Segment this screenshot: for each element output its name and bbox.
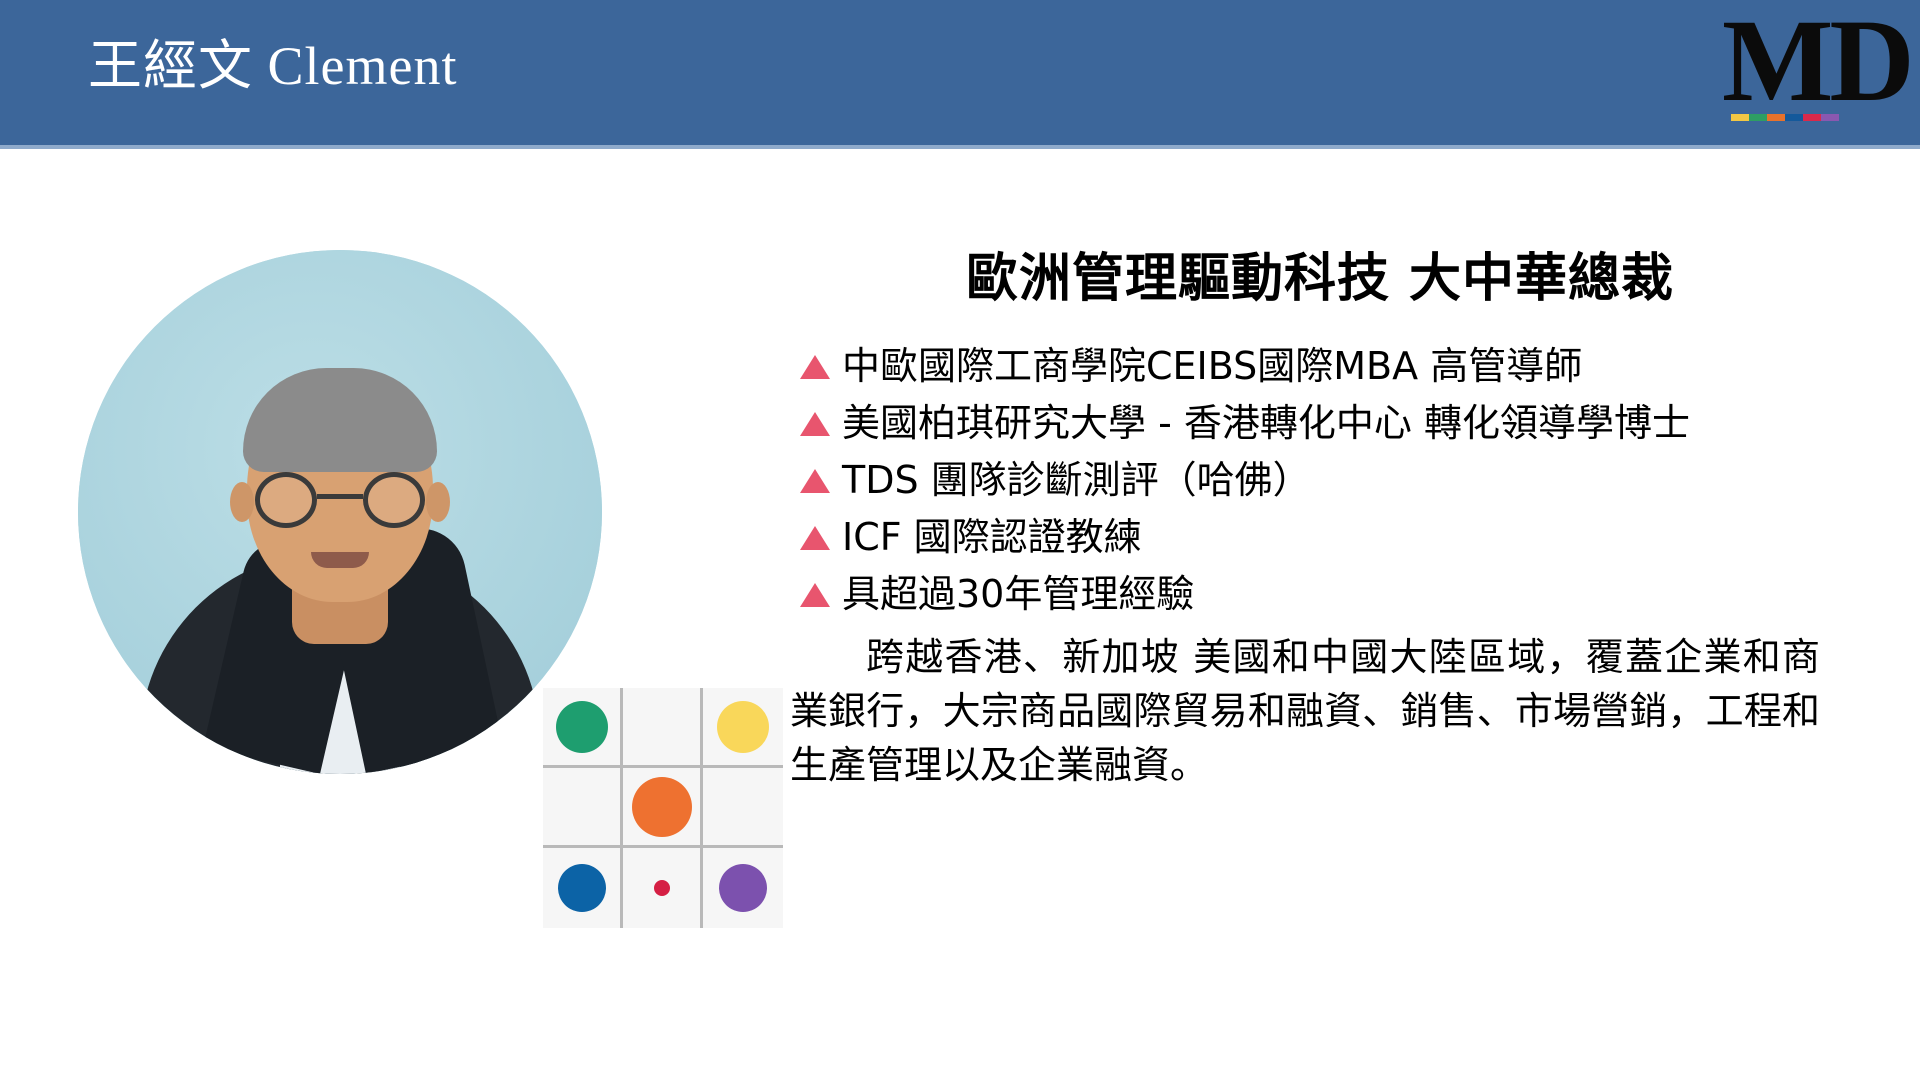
logo-bar-segment-4 — [1785, 114, 1803, 121]
list-item-label: ICF 國際認證教練 — [842, 517, 1142, 558]
dot-orange — [632, 777, 692, 837]
logo-bar-segment-3 — [1767, 114, 1785, 121]
dot-grid-cell-bottom-center — [623, 848, 703, 928]
dot-red-small — [654, 880, 670, 896]
portrait-lens-left — [255, 472, 317, 528]
headline: 歐洲管理驅動科技 大中華總裁 — [760, 250, 1880, 310]
slide: 王經文 Clement MD — [0, 0, 1920, 1080]
content-area: 歐洲管理驅動科技 大中華總裁 中歐國際工商學院CEIBS國際MBA 高管導師 美… — [800, 250, 1880, 793]
list-item: ICF 國際認證教練 — [800, 517, 1880, 558]
triangle-bullet-icon — [800, 526, 830, 550]
dot-yellow — [717, 701, 769, 753]
triangle-bullet-icon — [800, 355, 830, 379]
logo-bar-segment-5 — [1803, 114, 1821, 121]
triangle-bullet-icon — [800, 469, 830, 493]
list-item: TDS 團隊診斷測評（哈佛） — [800, 460, 1880, 501]
dot-grid-cell-middle-center — [623, 768, 703, 848]
dot-grid-cell-bottom-left — [543, 848, 623, 928]
header-underline — [0, 145, 1920, 149]
logo-bar-segment-6 — [1821, 114, 1839, 121]
list-item-label: 美國柏琪研究大學 - 香港轉化中心 轉化領導學博士 — [842, 403, 1690, 444]
biography-paragraph: 跨越香港、新加坡 美國和中國大陸區域，覆蓋企業和商業銀行，大宗商品國際貿易和融資… — [790, 631, 1820, 793]
logo-bar-segment-1 — [1731, 114, 1749, 121]
list-item: 美國柏琪研究大學 - 香港轉化中心 轉化領導學博士 — [800, 403, 1880, 444]
dot-blue — [558, 864, 606, 912]
portrait-ear-right — [426, 482, 450, 522]
page-title-latin: Clement — [268, 36, 458, 96]
dot-grid-cell-top-left — [543, 688, 623, 768]
dot-grid-graphic — [543, 688, 783, 928]
dot-green — [556, 701, 608, 753]
list-item-label: 具超過30年管理經驗 — [842, 574, 1194, 615]
portrait-lens-right — [363, 472, 425, 528]
page-title-cjk: 王經文 — [88, 34, 253, 97]
dot-purple — [719, 864, 767, 912]
portrait-glasses — [255, 472, 425, 528]
logo-color-bar — [1731, 114, 1839, 121]
triangle-bullet-icon — [800, 412, 830, 436]
list-item-label: 中歐國際工商學院CEIBS國際MBA 高管導師 — [842, 346, 1582, 387]
portrait-glasses-bridge — [317, 494, 363, 499]
dot-grid-cell-top-center — [623, 688, 703, 768]
dot-grid-cell-middle-left — [543, 768, 623, 848]
logo-bar-segment-2 — [1749, 114, 1767, 121]
portrait-photo — [78, 250, 602, 774]
page-title: 王經文 Clement — [88, 36, 457, 96]
brand-logo: MD — [1722, 8, 1872, 136]
list-item: 具超過30年管理經驗 — [800, 574, 1880, 615]
portrait-smile — [311, 552, 369, 568]
list-item: 中歐國際工商學院CEIBS國際MBA 高管導師 — [800, 346, 1880, 387]
triangle-bullet-icon — [800, 583, 830, 607]
logo-letters: MD — [1722, 2, 1911, 120]
dot-grid-cell-top-right — [703, 688, 783, 768]
dot-grid-cell-bottom-right — [703, 848, 783, 928]
list-item-label: TDS 團隊診斷測評（哈佛） — [842, 460, 1311, 501]
dot-grid-cell-middle-right — [703, 768, 783, 848]
portrait-ear-left — [230, 482, 254, 522]
credentials-list: 中歐國際工商學院CEIBS國際MBA 高管導師 美國柏琪研究大學 - 香港轉化中… — [800, 346, 1880, 615]
